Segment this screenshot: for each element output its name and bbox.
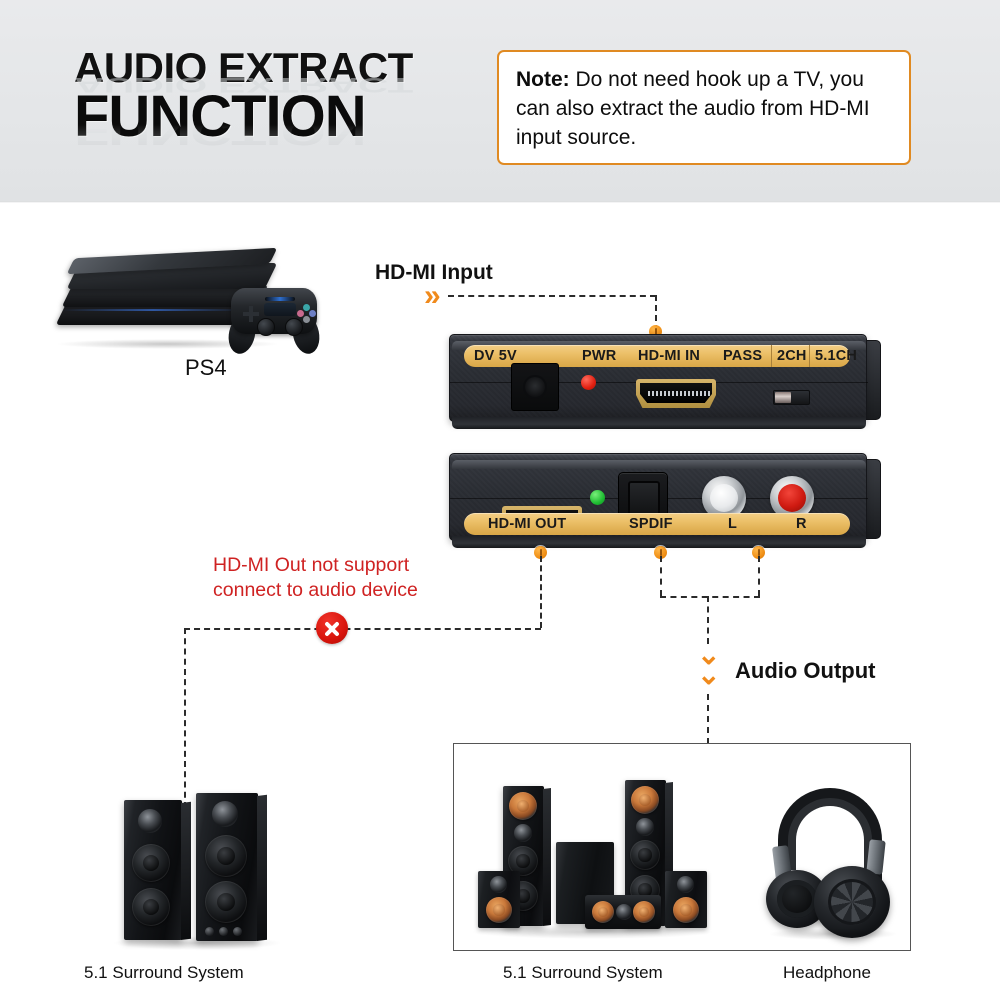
center-woofer-right	[633, 901, 655, 923]
dc-power-jack	[511, 363, 559, 411]
hdmi-in-pins	[648, 391, 712, 396]
headphones-illustration	[760, 788, 902, 933]
connector-audio-merge	[660, 596, 760, 598]
connector-spdif-vertical	[660, 556, 662, 596]
controller-touchpad	[264, 303, 296, 316]
dustcap	[217, 847, 235, 865]
dustcap	[638, 848, 651, 861]
tower-2-woofer-lower	[205, 881, 247, 923]
input-knob[interactable]	[233, 927, 242, 936]
caption-surround-system: 5.1 Surround System	[503, 963, 663, 983]
label-hdmi-in: HD-MI IN	[638, 346, 700, 366]
label-pwr: PWR	[582, 346, 616, 366]
dot-notch	[660, 549, 662, 556]
page-title: AUDIO EXTRACT FUNCTION AUDIO EXTRACT FUN…	[74, 46, 474, 196]
label-right-channel: R	[796, 514, 807, 534]
converter-back-panel: HD-MI OUT SPDIF L R	[449, 447, 881, 557]
front-panel-bottom-edge	[452, 417, 866, 429]
back-label-strip: HD-MI OUT SPDIF L R	[464, 513, 850, 535]
dustcap	[639, 794, 651, 806]
headphones-shadow	[768, 928, 898, 940]
tower-2-control-knobs[interactable]	[205, 927, 242, 936]
hdmi-in-cavity	[640, 383, 712, 403]
tower-2-tweeter	[212, 801, 238, 827]
note-label: Note:	[516, 68, 570, 91]
audio-output-label: Audio Output	[735, 658, 876, 684]
note-body: Do not need hook up a TV, you can also e…	[516, 68, 870, 149]
triangle-button-icon	[303, 304, 310, 311]
connector-hdmiout-vertical	[540, 556, 542, 628]
back-panel-case: HD-MI OUT SPDIF L R	[449, 453, 867, 541]
dustcap	[493, 904, 504, 915]
tower-right-tweeter	[636, 818, 654, 836]
surround-tower-left-side	[543, 788, 551, 926]
dustcap	[680, 904, 691, 915]
satellite-right-woofer	[673, 897, 699, 923]
label-spdif: SPDIF	[629, 514, 673, 534]
rca-right-center-pin	[784, 490, 800, 506]
switch-handle[interactable]	[775, 392, 791, 403]
rca-left-center-pin	[716, 490, 732, 506]
tower-right-mid	[630, 840, 660, 870]
output-arrow-icon: ⌄⌄	[697, 645, 720, 685]
controller-stick-right	[285, 318, 303, 336]
status-led-indicator	[590, 490, 605, 505]
earcup-center-logo	[847, 898, 857, 906]
note-callout-box: Note: Do not need hook up a TV, you can …	[497, 50, 911, 165]
infographic-canvas: AUDIO EXTRACT FUNCTION AUDIO EXTRACT FUN…	[0, 0, 1000, 1000]
note-text: Note: Do not need hook up a TV, you can …	[516, 65, 894, 152]
center-tweeter	[616, 904, 632, 920]
warning-line-2: connect to audio device	[213, 578, 513, 603]
ps4-light-strip	[63, 309, 244, 311]
dot-notch	[758, 549, 760, 556]
label-hdmi-out: HD-MI OUT	[488, 514, 566, 534]
header-banner: AUDIO EXTRACT FUNCTION AUDIO EXTRACT FUN…	[0, 0, 1000, 203]
controller-body	[231, 288, 317, 334]
dustcap	[517, 800, 529, 812]
satellite-left-woofer	[486, 897, 512, 923]
tower-1-side	[181, 802, 191, 940]
dot-notch	[540, 549, 542, 556]
x-circle-icon	[316, 612, 348, 644]
label-dv5v: DV 5V	[474, 346, 517, 366]
hdmi-in-port	[636, 379, 716, 408]
caption-left-surround: 5.1 Surround System	[84, 963, 244, 983]
satellite-speaker-left	[478, 871, 520, 928]
controller-lightbar	[265, 297, 295, 301]
dustcap	[143, 899, 160, 916]
tower-1-woofer-lower	[132, 888, 170, 926]
connector-rca-vertical	[758, 556, 760, 596]
back-panel-top-edge	[452, 460, 866, 469]
satellite-right-tweeter	[677, 876, 694, 893]
tower-2-woofer-upper	[205, 835, 247, 877]
tower-left-copper-driver	[509, 792, 537, 820]
square-button-icon	[297, 310, 304, 317]
tower-right-copper-driver	[631, 786, 659, 814]
cross-button-icon	[303, 316, 310, 323]
dustcap	[598, 907, 608, 917]
hdmi-out-warning-text: HD-MI Out not support connect to audio d…	[213, 553, 513, 603]
dustcap	[217, 893, 235, 911]
dualshock-controller-illustration	[225, 278, 323, 350]
tower-1-tweeter	[138, 809, 162, 833]
input-arrow-icon: »	[424, 281, 435, 311]
dc-jack-pin	[532, 384, 538, 390]
dustcap	[516, 854, 529, 867]
connector-hdmiout-down-to-speakers	[184, 628, 186, 808]
bass-knob[interactable]	[219, 927, 228, 936]
tower-speaker-2	[196, 793, 258, 941]
connector-audio-to-panel	[707, 694, 709, 744]
connector-audio-down	[707, 596, 709, 644]
label-left-channel: L	[728, 514, 737, 534]
dustcap	[143, 855, 160, 872]
title-line-2: FUNCTION	[74, 88, 474, 146]
circle-button-icon	[309, 310, 316, 317]
tower-left-tweeter	[514, 824, 532, 842]
converter-front-panel: DV 5V PWR HD-MI IN PASS 2CH 5.1CH	[449, 328, 881, 436]
dustcap	[639, 907, 649, 917]
satellite-speaker-right	[665, 871, 707, 928]
label-divider-2	[809, 345, 810, 367]
center-woofer-left	[592, 901, 614, 923]
volume-knob[interactable]	[205, 927, 214, 936]
tower-2-side	[257, 795, 267, 941]
channel-mode-switch[interactable]	[773, 390, 810, 405]
warning-line-1: HD-MI Out not support	[213, 553, 513, 578]
label-divider-1	[771, 345, 772, 367]
connector-input-horizontal	[448, 295, 656, 297]
label-pass: PASS	[723, 346, 762, 366]
front-panel-case: DV 5V PWR HD-MI IN PASS 2CH 5.1CH	[449, 334, 867, 422]
tower-speaker-1	[124, 800, 182, 940]
satellite-left-tweeter	[490, 876, 507, 893]
ps4-caption: PS4	[185, 355, 227, 381]
power-led-indicator	[581, 375, 596, 390]
controller-stick-left	[257, 318, 275, 336]
connector-hdmiout-horizontal	[184, 628, 541, 630]
controller-dpad-icon	[243, 306, 259, 322]
center-channel-speaker	[585, 895, 661, 929]
tower-1-woofer-upper	[132, 844, 170, 882]
label-51ch: 5.1CH	[815, 346, 857, 366]
label-2ch: 2CH	[777, 346, 807, 366]
caption-headphone: Headphone	[783, 963, 871, 983]
